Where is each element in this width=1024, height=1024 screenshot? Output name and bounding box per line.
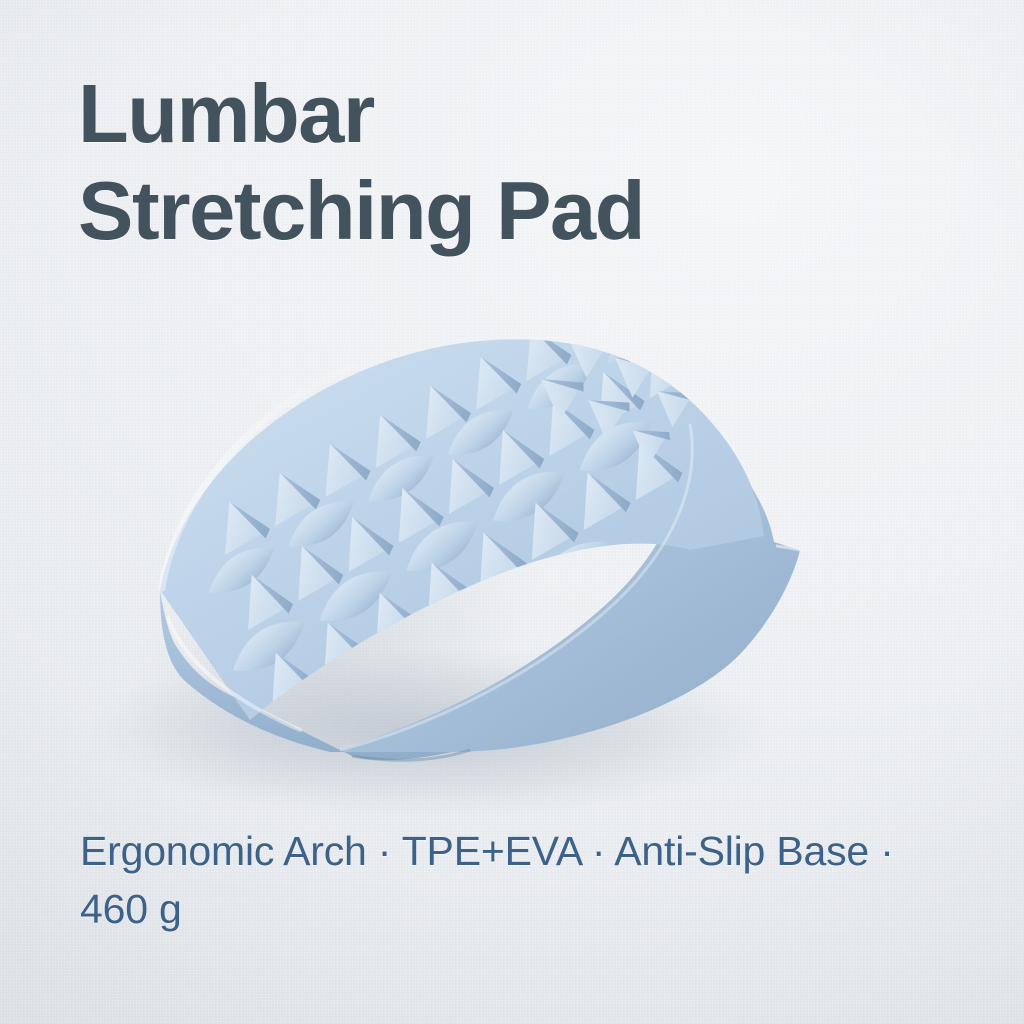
product-image-stage	[0, 300, 1024, 820]
title-line-1: Lumbar	[78, 72, 928, 155]
product-hero-card: Lumbar Stretching Pad Ergonomic Arch · T…	[0, 0, 1024, 1024]
page-title: Lumbar Stretching Pad	[78, 72, 928, 252]
feature-list-text: Ergonomic Arch · TPE+EVA · Anti-Slip Bas…	[80, 822, 960, 938]
feature-list: Ergonomic Arch · TPE+EVA · Anti-Slip Bas…	[80, 822, 960, 938]
title-line-2: Stretching Pad	[78, 169, 928, 252]
lumbar-pad-illustration	[0, 300, 1024, 820]
